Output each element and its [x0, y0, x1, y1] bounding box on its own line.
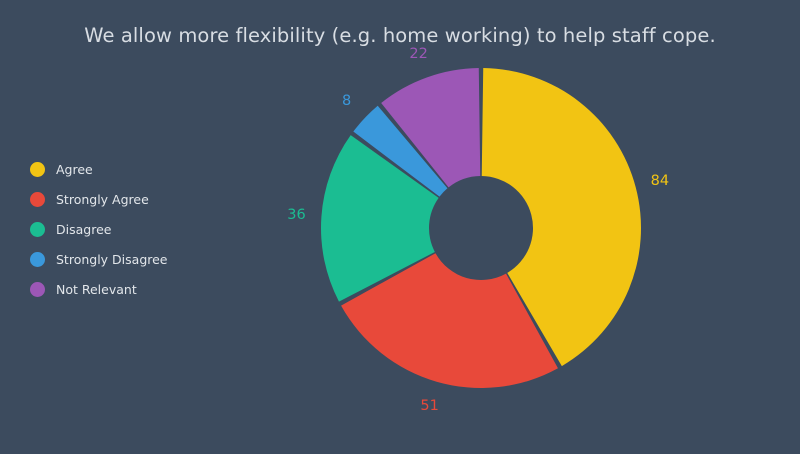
donut-svg [0, 0, 800, 450]
donut-plot-area: 845136822 [0, 0, 800, 450]
donut-chart-figure: We allow more flexibility (e.g. home wor… [0, 0, 800, 450]
